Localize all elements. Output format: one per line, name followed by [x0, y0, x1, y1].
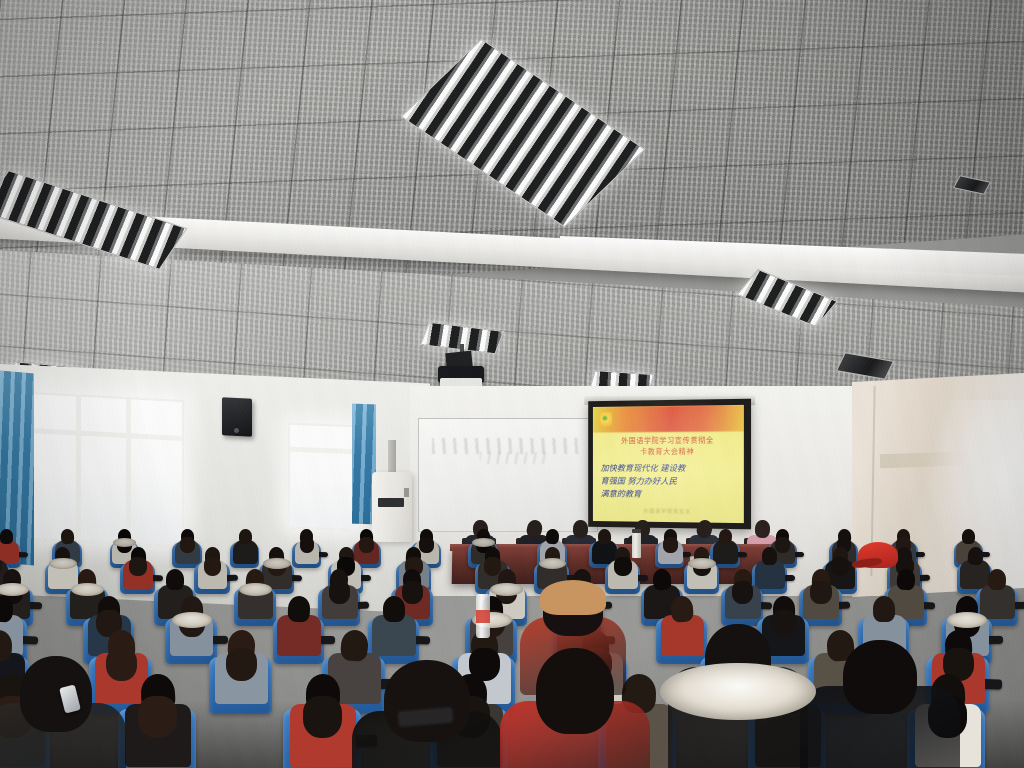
- audience-person-head: [762, 547, 778, 565]
- audience-person-head: [718, 528, 732, 544]
- audience-person-long-hair: [775, 537, 790, 553]
- audience-person-head: [988, 569, 1007, 591]
- audience-person-fur-hood: [172, 612, 212, 628]
- slide-footer-text: 外国语学院党总支: [593, 507, 744, 516]
- projection-screen-surface: 外国语学院学习宣传贯彻全 卡教育大会精神 加快教育现代化 建设教育强国 努力办好…: [593, 405, 744, 523]
- audience-person-head: [671, 595, 695, 622]
- audience-group: [0, 520, 1024, 768]
- slide-body-line: 满意的教育: [601, 488, 738, 502]
- slide-body-text: 加快教育现代化 建设教育强国 努力办好人民满意的教育: [601, 462, 738, 502]
- audience-person-long-hair: [419, 537, 434, 553]
- air-conditioner-panel: [404, 488, 409, 497]
- slide-body-line: 育强国 努力办好人民: [601, 475, 738, 489]
- slide-emblem-star-icon: [603, 416, 608, 421]
- audience-person-fur-hood: [239, 583, 272, 596]
- person-glasses-head: [384, 660, 470, 742]
- slide-banner: [593, 405, 744, 433]
- audience-person-head: [239, 529, 252, 544]
- audience-person-long-hair: [204, 557, 222, 576]
- audience-person-long-hair: [129, 557, 147, 576]
- audience-person-head: [61, 529, 75, 544]
- audience-person-long-hair: [831, 557, 849, 576]
- audience-person-head: [967, 547, 984, 566]
- audience-person-fur-hood: [263, 558, 291, 569]
- audience-person-fur-hood: [947, 612, 987, 628]
- audience-person-long-hair: [138, 696, 177, 737]
- person-red-cap: [858, 542, 898, 568]
- audience-person-long-hair: [359, 537, 374, 553]
- audience-person-head: [383, 595, 406, 621]
- audience-person-long-hair: [771, 610, 797, 637]
- audience-person-head: [340, 629, 370, 662]
- audience-person-long-hair: [226, 648, 257, 681]
- audience-person-head: [287, 595, 310, 622]
- audience-person-long-hair: [732, 581, 753, 603]
- air-conditioner-pipe: [388, 440, 396, 474]
- audience-person-head: [166, 569, 185, 590]
- audience-person-long-hair: [303, 696, 342, 737]
- whiteboard-erased-writing-2: [480, 452, 550, 464]
- audience-person-fur-hood: [71, 583, 104, 596]
- audience-person-fur-hood: [490, 583, 523, 596]
- slide-body-line: 加快教育现代化 建设教: [601, 462, 738, 475]
- audience-person-torso: [980, 585, 1016, 619]
- audience-person-long-hair: [614, 557, 632, 576]
- audience-person-long-hair: [106, 648, 137, 681]
- audience-person-head: [896, 569, 916, 591]
- audience-person-long-hair: [663, 537, 678, 553]
- person-left-fg-head: [20, 656, 92, 732]
- audience-person-head: [652, 569, 672, 592]
- water-bottle-label: [476, 610, 490, 623]
- person-tan-hat-hat: [540, 580, 606, 615]
- audience-person-long-hair: [402, 581, 423, 603]
- person-red-coat-head: [536, 648, 614, 734]
- water-bottle-desk[interactable]: [476, 594, 490, 638]
- whiteboard: [418, 418, 598, 532]
- person-fur-hood-fur-collar: [660, 663, 816, 720]
- audience-person-fur-hood: [0, 583, 29, 596]
- audience-person-head: [546, 528, 560, 544]
- wall-speaker-led: [234, 428, 239, 433]
- audience-person-fur-hood: [49, 558, 77, 569]
- audience-person-fur-hood: [688, 558, 716, 569]
- audience-person-head: [598, 529, 611, 544]
- audience-person-head: [962, 529, 975, 544]
- slide-title-line-2: 卡教育大会精神: [593, 447, 744, 457]
- audience-person-long-hair: [300, 537, 315, 553]
- person-dark-right-head: [843, 640, 917, 714]
- audience-person-long-hair: [329, 581, 350, 603]
- audience-person-head: [0, 529, 13, 544]
- audience-person-long-hair: [180, 537, 195, 553]
- window-right: [288, 423, 358, 532]
- audience-person-long-hair: [810, 581, 831, 603]
- air-conditioner-vent: [378, 498, 404, 507]
- audience-person-fur-hood: [539, 558, 567, 569]
- slide-title-line-1: 外国语学院学习宣传贯彻全: [593, 435, 744, 446]
- lecture-hall-photo: 外国语学院学习宣传贯彻全 卡教育大会精神 加快教育现代化 建设教育强国 努力办好…: [0, 0, 1024, 768]
